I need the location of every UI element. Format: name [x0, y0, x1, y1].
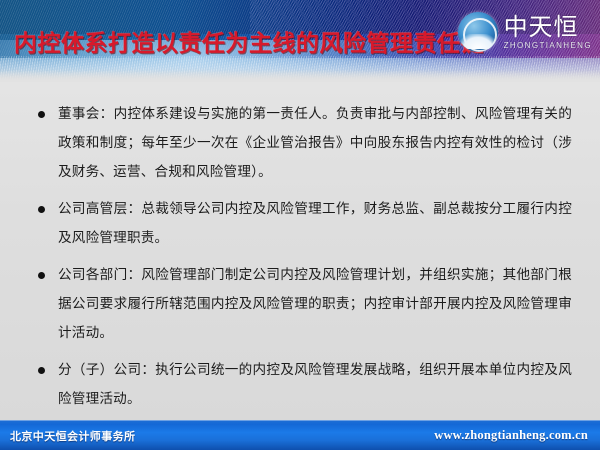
list-item: 公司高管层：总裁领导公司内控及风险管理工作，财务总监、副总裁按分工履行内控及风险… [36, 195, 572, 253]
logo-chinese-name: 中天恒 [504, 15, 579, 39]
list-item: 分（子）公司：执行公司统一的内控及风险管理发展战略，组织开展本单位内控及风险管理… [36, 356, 572, 414]
slide-footer: 北京中天恒会计师事务所 www.zhongtianheng.com.cn [0, 420, 600, 450]
slide-content-area: 董事会：内控体系建设与实施的第一责任人。负责审批与内部控制、风险管理有关的政策和… [0, 82, 600, 420]
bullet-list: 董事会：内控体系建设与实施的第一责任人。负责审批与内部控制、风险管理有关的政策和… [36, 100, 572, 414]
bullet-dot-icon [38, 367, 45, 374]
bullet-dot-icon [38, 111, 45, 118]
presentation-slide: 内控体系打造以责任为主线的风险管理责任链 中天恒 ZHONGTIANHENG 董… [0, 0, 600, 450]
logo-english-name: ZHONGTIANHENG [504, 42, 592, 50]
header-bottom-fade [0, 70, 600, 80]
list-item-text: 公司高管层：总裁领导公司内控及风险管理工作，财务总监、副总裁按分工履行内控及风险… [58, 201, 572, 246]
logo-wordmark: 中天恒 ZHONGTIANHENG [504, 15, 592, 50]
list-item: 公司各部门：风险管理部门制定公司内控及风险管理计划，并组织实施；其他部门根据公司… [36, 261, 572, 348]
list-item: 董事会：内控体系建设与实施的第一责任人。负责审批与内部控制、风险管理有关的政策和… [36, 100, 572, 187]
company-logo: 中天恒 ZHONGTIANHENG [458, 12, 592, 52]
bullet-dot-icon [38, 272, 45, 279]
zhongtianheng-globe-icon [458, 12, 498, 52]
bullet-dot-icon [38, 206, 45, 213]
list-item-text: 董事会：内控体系建设与实施的第一责任人。负责审批与内部控制、风险管理有关的政策和… [58, 106, 572, 180]
footer-website-link[interactable]: www.zhongtianheng.com.cn [434, 428, 588, 443]
list-item-text: 分（子）公司：执行公司统一的内控及风险管理发展战略，组织开展本单位内控及风险管理… [58, 362, 572, 407]
footer-company-name: 北京中天恒会计师事务所 [10, 428, 135, 444]
list-item-text: 公司各部门：风险管理部门制定公司内控及风险管理计划，并组织实施；其他部门根据公司… [58, 267, 572, 341]
